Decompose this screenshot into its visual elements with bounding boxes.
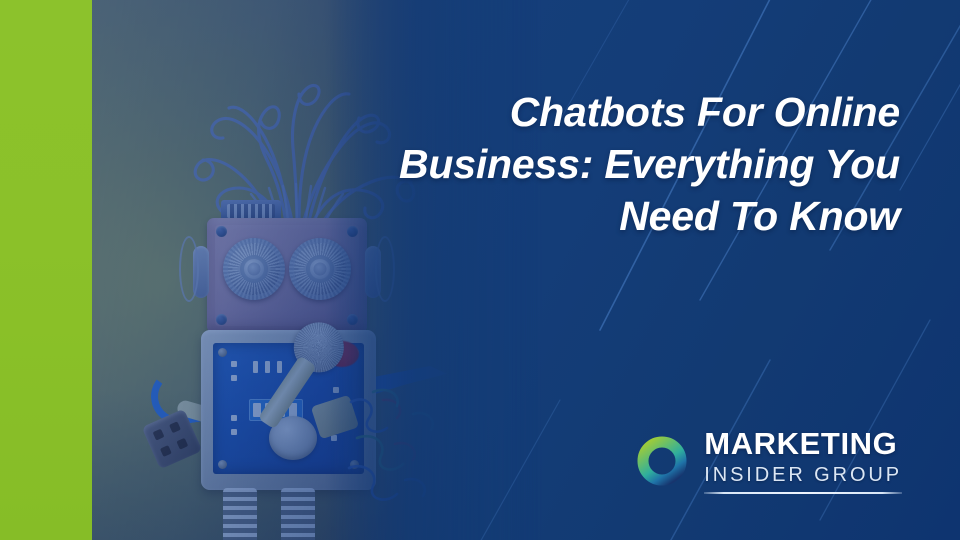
brand-logo: MARKETING INSIDER GROUP [637, 428, 902, 494]
logo-primary-text: MARKETING [704, 428, 902, 459]
headline-line-3: Need To Know [380, 190, 900, 242]
logo-underline-rule [704, 492, 902, 494]
headline-line-1: Chatbots For Online [380, 86, 900, 138]
featured-image-canvas: Chatbots For Online Business: Everything… [0, 0, 960, 540]
logo-wordmark: MARKETING INSIDER GROUP [704, 428, 902, 494]
left-accent-bar [0, 0, 92, 540]
headline-line-2: Business: Everything You [380, 138, 900, 190]
ring-donut-icon [637, 436, 687, 486]
logo-secondary-text: INSIDER GROUP [704, 465, 902, 485]
headline-title: Chatbots For Online Business: Everything… [380, 86, 900, 242]
